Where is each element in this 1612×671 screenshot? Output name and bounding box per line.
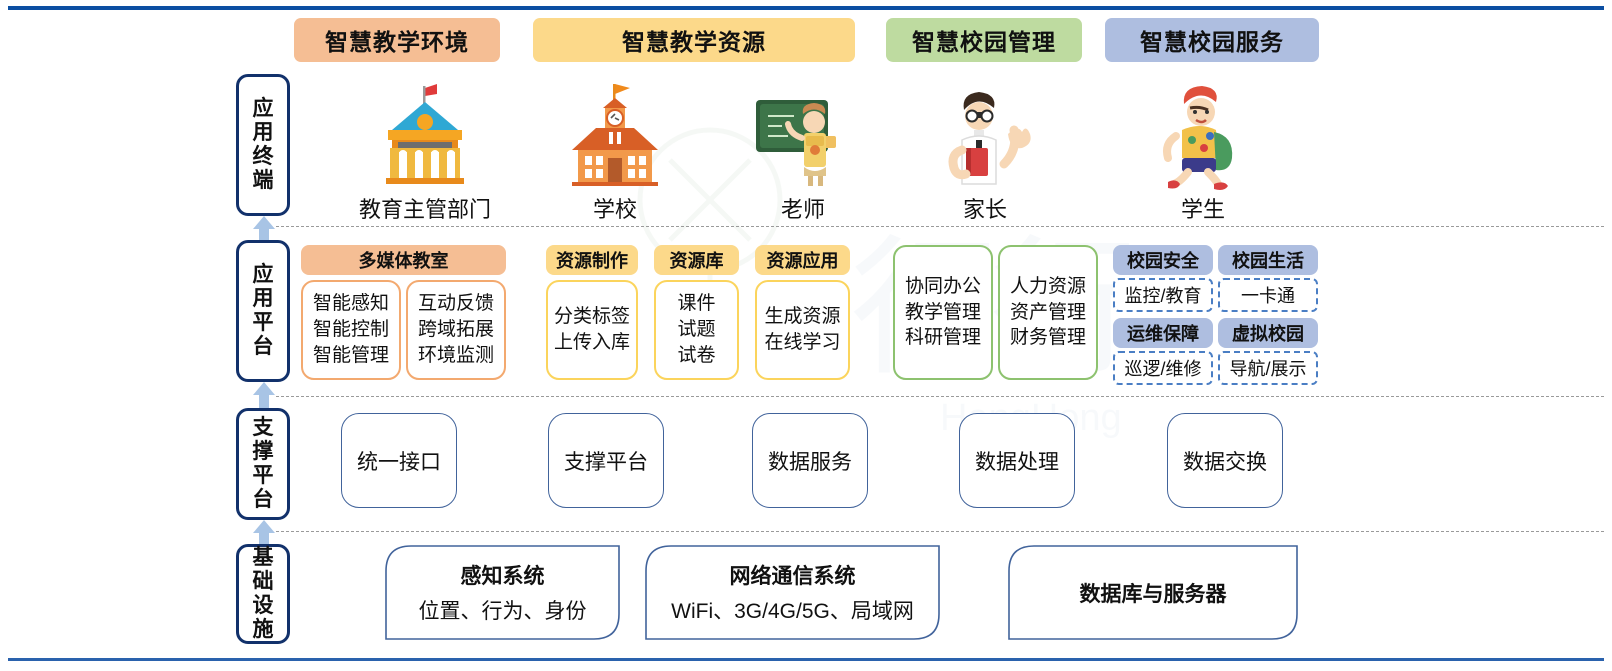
terminal-label-2: 学校 [530,192,700,224]
value-virtual-campus: 导航/展示 [1218,351,1318,385]
rail-label-application-terminal: 应用终端 [250,97,276,193]
rail-label-infrastructure: 基础设施 [250,546,276,642]
rail-application-terminal: 应用终端 [236,74,290,216]
parent-waving-icon [900,78,1070,190]
layer-separator-1 [276,226,1604,227]
value-ops-guarantee: 巡逻/维修 [1113,351,1213,385]
panel-line: 财务管理 [1010,325,1086,351]
chip-resource-application[interactable]: 资源应用 [755,245,850,275]
layer-separator-2 [276,396,1604,397]
infra-subtitle-1: 位置、行为、身份 [419,595,587,625]
panel-line: 生成资源 [764,304,840,330]
infra-database-server: 数据库与服务器 [1008,545,1298,640]
rail-arrow-1 [252,216,276,240]
rail-arrow-2 [252,382,276,408]
terminal-label-4: 家长 [900,192,1070,224]
government-building-icon [330,78,520,190]
infra-network-system: 网络通信系统WiFi、3G/4G/5G、局域网 [645,545,940,640]
infra-title-1: 感知系统 [461,560,545,590]
terminal-学生: 学生 [1118,78,1288,224]
infra-sensing-system: 感知系统位置、行为、身份 [385,545,620,640]
category-banner-3[interactable]: 智慧校园管理 [886,18,1082,62]
school-building-icon [530,78,700,190]
terminal-label-5: 学生 [1118,192,1288,224]
panel-campus-management-left-1: 协同办公教学管理科研管理 [893,245,993,380]
value-campus-safety: 监控/教育 [1113,278,1213,312]
terminal-label-3: 老师 [718,192,888,224]
student-walking-icon [1118,78,1288,190]
terminal-学校: 学校 [530,78,700,224]
panel-line: 试卷 [677,343,715,369]
value-campus-life: 一卡通 [1218,278,1318,312]
terminal-label-1: 教育主管部门 [330,192,520,224]
panel-line: 在线学习 [764,330,840,356]
panel-line: 智能控制 [313,317,389,343]
chip-multimedia-classroom[interactable]: 多媒体教室 [301,245,506,275]
support-数据交换: 数据交换 [1167,413,1283,508]
terminal-教育主管部门: 教育主管部门 [330,78,520,224]
rail-label-support-platform: 支撑平台 [250,416,276,512]
panel-line: 跨域拓展 [418,317,494,343]
rail-arrow-3 [252,520,276,544]
panel-line: 协同办公 [905,274,981,300]
category-banner-4[interactable]: 智慧校园服务 [1105,18,1319,62]
panel-line: 试题 [677,317,715,343]
rail-label-application-platform: 应用平台 [250,263,276,359]
chip-virtual-campus[interactable]: 虚拟校园 [1218,318,1318,348]
infra-title-3: 数据库与服务器 [1080,578,1227,608]
panel-resource-application-1: 生成资源在线学习 [755,280,850,380]
chip-resource-library[interactable]: 资源库 [654,245,739,275]
panel-line: 智能管理 [313,343,389,369]
terminal-老师: 老师 [718,78,888,224]
support-支撑平台: 支撑平台 [548,413,664,508]
panel-line: 资产管理 [1010,300,1086,326]
chip-campus-safety[interactable]: 校园安全 [1113,245,1213,275]
panel-line: 科研管理 [905,325,981,351]
support-数据处理: 数据处理 [959,413,1075,508]
panel-campus-management-right-1: 人力资源资产管理财务管理 [998,245,1098,380]
infra-subtitle-2: WiFi、3G/4G/5G、局域网 [671,595,914,625]
category-banner-1[interactable]: 智慧教学环境 [294,18,500,62]
rail-infrastructure: 基础设施 [236,544,290,644]
terminal-家长: 家长 [900,78,1070,224]
chip-campus-life[interactable]: 校园生活 [1218,245,1318,275]
support-数据服务: 数据服务 [752,413,868,508]
panel-resource-production-1: 分类标签上传入库 [546,280,638,380]
panel-line: 分类标签 [554,304,630,330]
panel-line: 智能感知 [313,291,389,317]
layer-separator-3 [276,531,1604,532]
panel-resource-library-1: 课件试题试卷 [654,280,739,380]
panel-line: 课件 [677,291,715,317]
panel-multimedia-classroom-1: 智能感知智能控制智能管理 [301,280,401,380]
bottom-rule [8,658,1604,661]
panel-line: 教学管理 [905,300,981,326]
panel-line: 互动反馈 [418,291,494,317]
chip-ops-guarantee[interactable]: 运维保障 [1113,318,1213,348]
panel-line: 上传入库 [554,330,630,356]
panel-multimedia-classroom-2: 互动反馈跨域拓展环境监测 [406,280,506,380]
category-banner-row: 智慧教学环境智慧教学资源智慧校园管理智慧校园服务 [0,18,1612,64]
rail-application-platform: 应用平台 [236,240,290,382]
infra-title-2: 网络通信系统 [730,560,856,590]
top-rule [8,6,1604,10]
category-banner-2[interactable]: 智慧教学资源 [533,18,855,62]
chip-resource-production[interactable]: 资源制作 [546,245,638,275]
support-统一接口: 统一接口 [341,413,457,508]
panel-line: 环境监测 [418,343,494,369]
panel-line: 人力资源 [1010,274,1086,300]
rail-support-platform: 支撑平台 [236,408,290,520]
teacher-blackboard-icon [718,78,888,190]
